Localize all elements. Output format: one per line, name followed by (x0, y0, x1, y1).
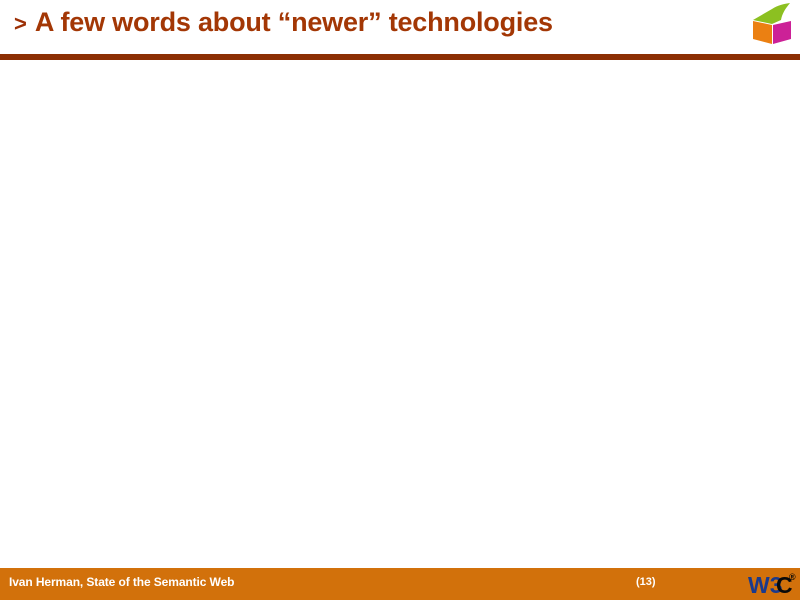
page-title: > A few words about “newer” technologies (14, 9, 553, 36)
presentation-slide: > A few words about “newer” technologies… (0, 0, 800, 600)
footer-credit-text: Ivan Herman, State of the Semantic Web (9, 575, 234, 589)
w3c-cube-icon (751, 3, 795, 45)
w3c-wordmark-icon: W3 C ® (748, 571, 796, 598)
slide-header: > A few words about “newer” technologies (0, 0, 800, 54)
title-bullet-marker: > (14, 13, 27, 35)
slide-content-area (0, 60, 800, 568)
svg-text:®: ® (789, 572, 796, 582)
page-title-text: A few words about “newer” technologies (35, 9, 553, 36)
slide-footer: Ivan Herman, State of the Semantic Web (… (0, 568, 800, 600)
footer-page-number: (13) (636, 576, 656, 588)
